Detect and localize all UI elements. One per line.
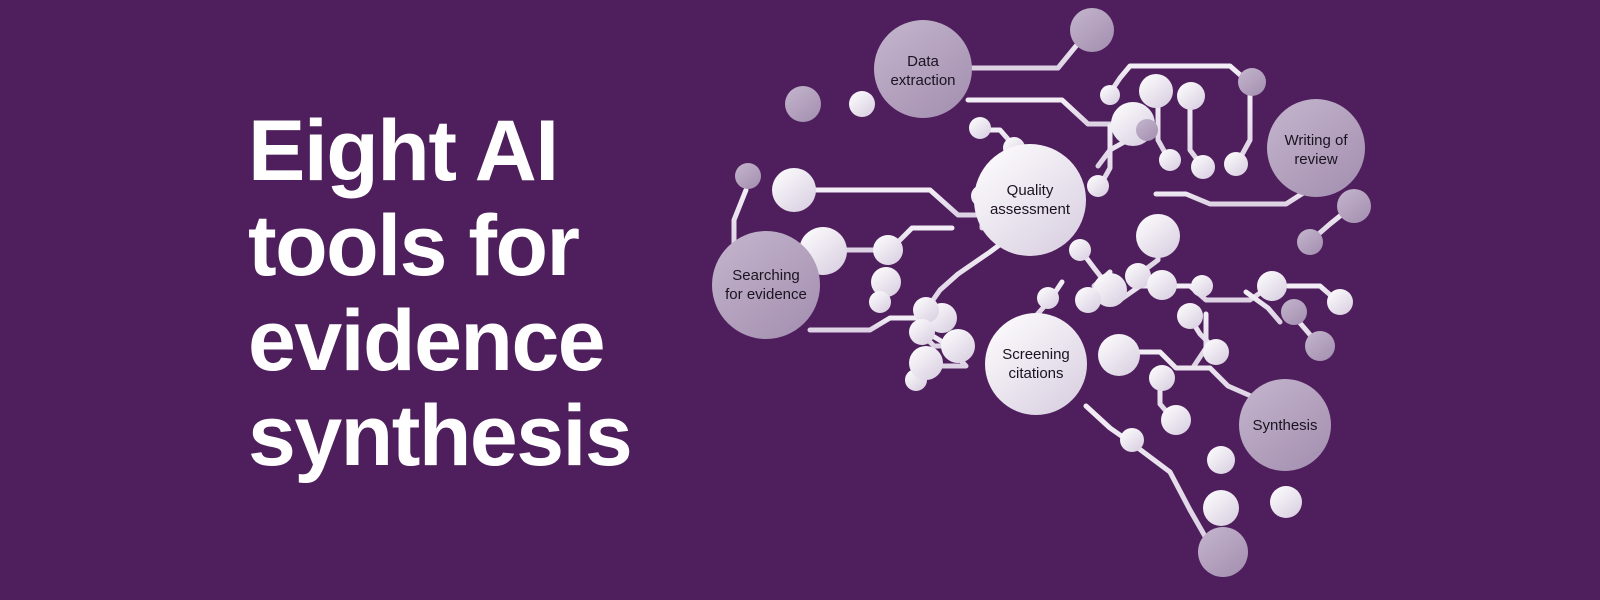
connector-node [1281, 299, 1307, 325]
connector-node [1069, 239, 1091, 261]
connector-node [1207, 446, 1235, 474]
connector-nodes [735, 8, 1371, 577]
connector-node [909, 319, 935, 345]
connector-node [1238, 68, 1266, 96]
stage-label-line: review [1294, 151, 1338, 168]
connector-node [909, 346, 943, 380]
connector-node [1270, 486, 1302, 518]
connector-node [785, 86, 821, 122]
connector-node [1198, 527, 1248, 577]
connector-node [1177, 303, 1203, 329]
brain-circuit-svg: Searching for evidence Data extraction Q… [690, 0, 1410, 600]
connector-node [772, 168, 816, 212]
connector-node [1257, 271, 1287, 301]
stage-label-line: Quality [1007, 182, 1054, 199]
connector-node [1120, 428, 1144, 452]
stage-node-writing-of-review[interactable]: Writing of review [1267, 99, 1365, 197]
connector-node [1100, 85, 1120, 105]
connector-node [1147, 270, 1177, 300]
connector-node [1177, 82, 1205, 110]
connector-node [941, 329, 975, 363]
stage-node-quality-assessment[interactable]: Quality assessment [974, 144, 1086, 256]
stage-label-line: Data [907, 53, 939, 70]
stage-node-data-extraction[interactable]: Data extraction [874, 20, 972, 118]
connector-node [1159, 149, 1181, 171]
connector-node [1037, 287, 1059, 309]
stage-label-line: extraction [890, 72, 955, 89]
connector-node [1297, 229, 1323, 255]
connector-node [969, 117, 991, 139]
connector-node [1139, 74, 1173, 108]
stage-label-line: Synthesis [1252, 417, 1317, 434]
stage-label-line: Writing of [1284, 132, 1348, 149]
connector-node [1327, 289, 1353, 315]
connector-node [869, 291, 891, 313]
connector-node [1305, 331, 1335, 361]
connector-node [913, 297, 939, 323]
stage-label-line: assessment [990, 201, 1071, 218]
connector-node [1136, 214, 1180, 258]
connector-node [849, 91, 875, 117]
connector-node [1161, 405, 1191, 435]
connector-node [1203, 339, 1229, 365]
connector-node [1070, 8, 1114, 52]
connector-node [1075, 287, 1101, 313]
stage-node-screening-citations[interactable]: Screening citations [985, 313, 1087, 415]
stage-label-line: Screening [1002, 346, 1070, 363]
connector-node [735, 163, 761, 189]
stage-node-searching-for-evidence[interactable]: Searching for evidence [712, 231, 820, 339]
connector-node [1136, 119, 1158, 141]
connector-node [873, 235, 903, 265]
banner: Eight AI tools for evidence synthesis [0, 0, 1600, 600]
page-title: Eight AI tools for evidence synthesis [248, 104, 718, 484]
connector-node [1149, 365, 1175, 391]
stage-label-line: for evidence [725, 286, 807, 303]
brain-circuit-illustration: Searching for evidence Data extraction Q… [690, 0, 1410, 600]
connector-node [1337, 189, 1371, 223]
connector-node [1087, 175, 1109, 197]
stage-label-line: Searching [732, 267, 800, 284]
connector-node [1224, 152, 1248, 176]
connector-node [1191, 275, 1213, 297]
stage-node-synthesis[interactable]: Synthesis [1239, 379, 1331, 471]
connector-node [1098, 334, 1140, 376]
stage-label-line: citations [1008, 365, 1063, 382]
connector-node [1203, 490, 1239, 526]
connector-node [1191, 155, 1215, 179]
